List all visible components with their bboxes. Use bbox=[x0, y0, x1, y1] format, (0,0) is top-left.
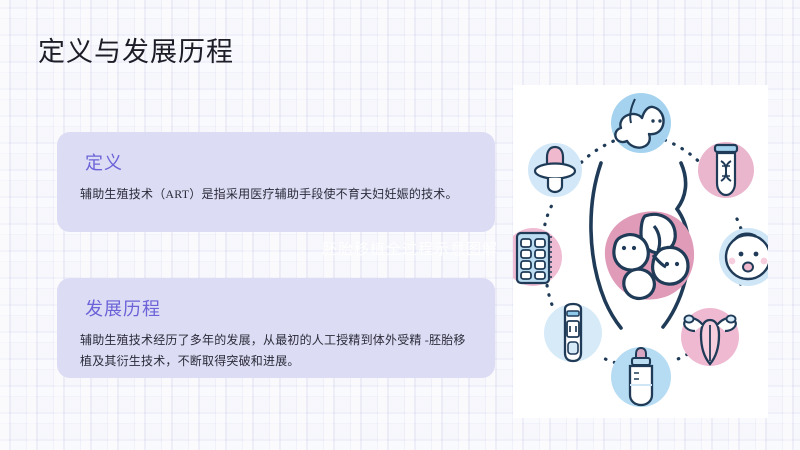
page-title: 定义与发展历程 bbox=[38, 30, 234, 69]
uterus-icon bbox=[681, 308, 739, 366]
pill-blister-pack-icon bbox=[513, 228, 562, 286]
history-card-body: 辅助生殖技术经历了多年的发展，从最初的人工授精到体外受精 -胚胎移植及其衍生技术… bbox=[80, 330, 473, 372]
history-card: 发展历程 辅助生殖技术经历了多年的发展，从最初的人工授精到体外受精 -胚胎移植及… bbox=[57, 278, 495, 378]
art-process-diagram bbox=[513, 85, 768, 418]
definition-card-heading: 定义 bbox=[85, 149, 473, 175]
baby-bottle-icon bbox=[611, 347, 671, 407]
dna-test-tube-icon bbox=[698, 142, 754, 198]
baby-face-icon bbox=[719, 228, 768, 286]
pacifier-icon bbox=[528, 143, 582, 197]
slide-root: 定义与发展历程 定义 辅助生殖技术（ART）是指采用医疗辅助手段使不育夫妇妊娠的… bbox=[0, 0, 800, 450]
history-card-heading: 发展历程 bbox=[85, 295, 473, 321]
pregnancy-test-icon bbox=[544, 304, 602, 362]
definition-card-body: 辅助生殖技术（ART）是指采用医疗辅助手段使不育夫妇妊娠的技术。 bbox=[80, 184, 473, 205]
illustration-panel bbox=[513, 85, 768, 418]
definition-card: 定义 辅助生殖技术（ART）是指采用医疗辅助手段使不育夫妇妊娠的技术。 bbox=[57, 132, 495, 232]
watermark-text: 胚胎移植全过程示意图解 bbox=[310, 238, 510, 259]
fetus-icon bbox=[611, 93, 671, 153]
